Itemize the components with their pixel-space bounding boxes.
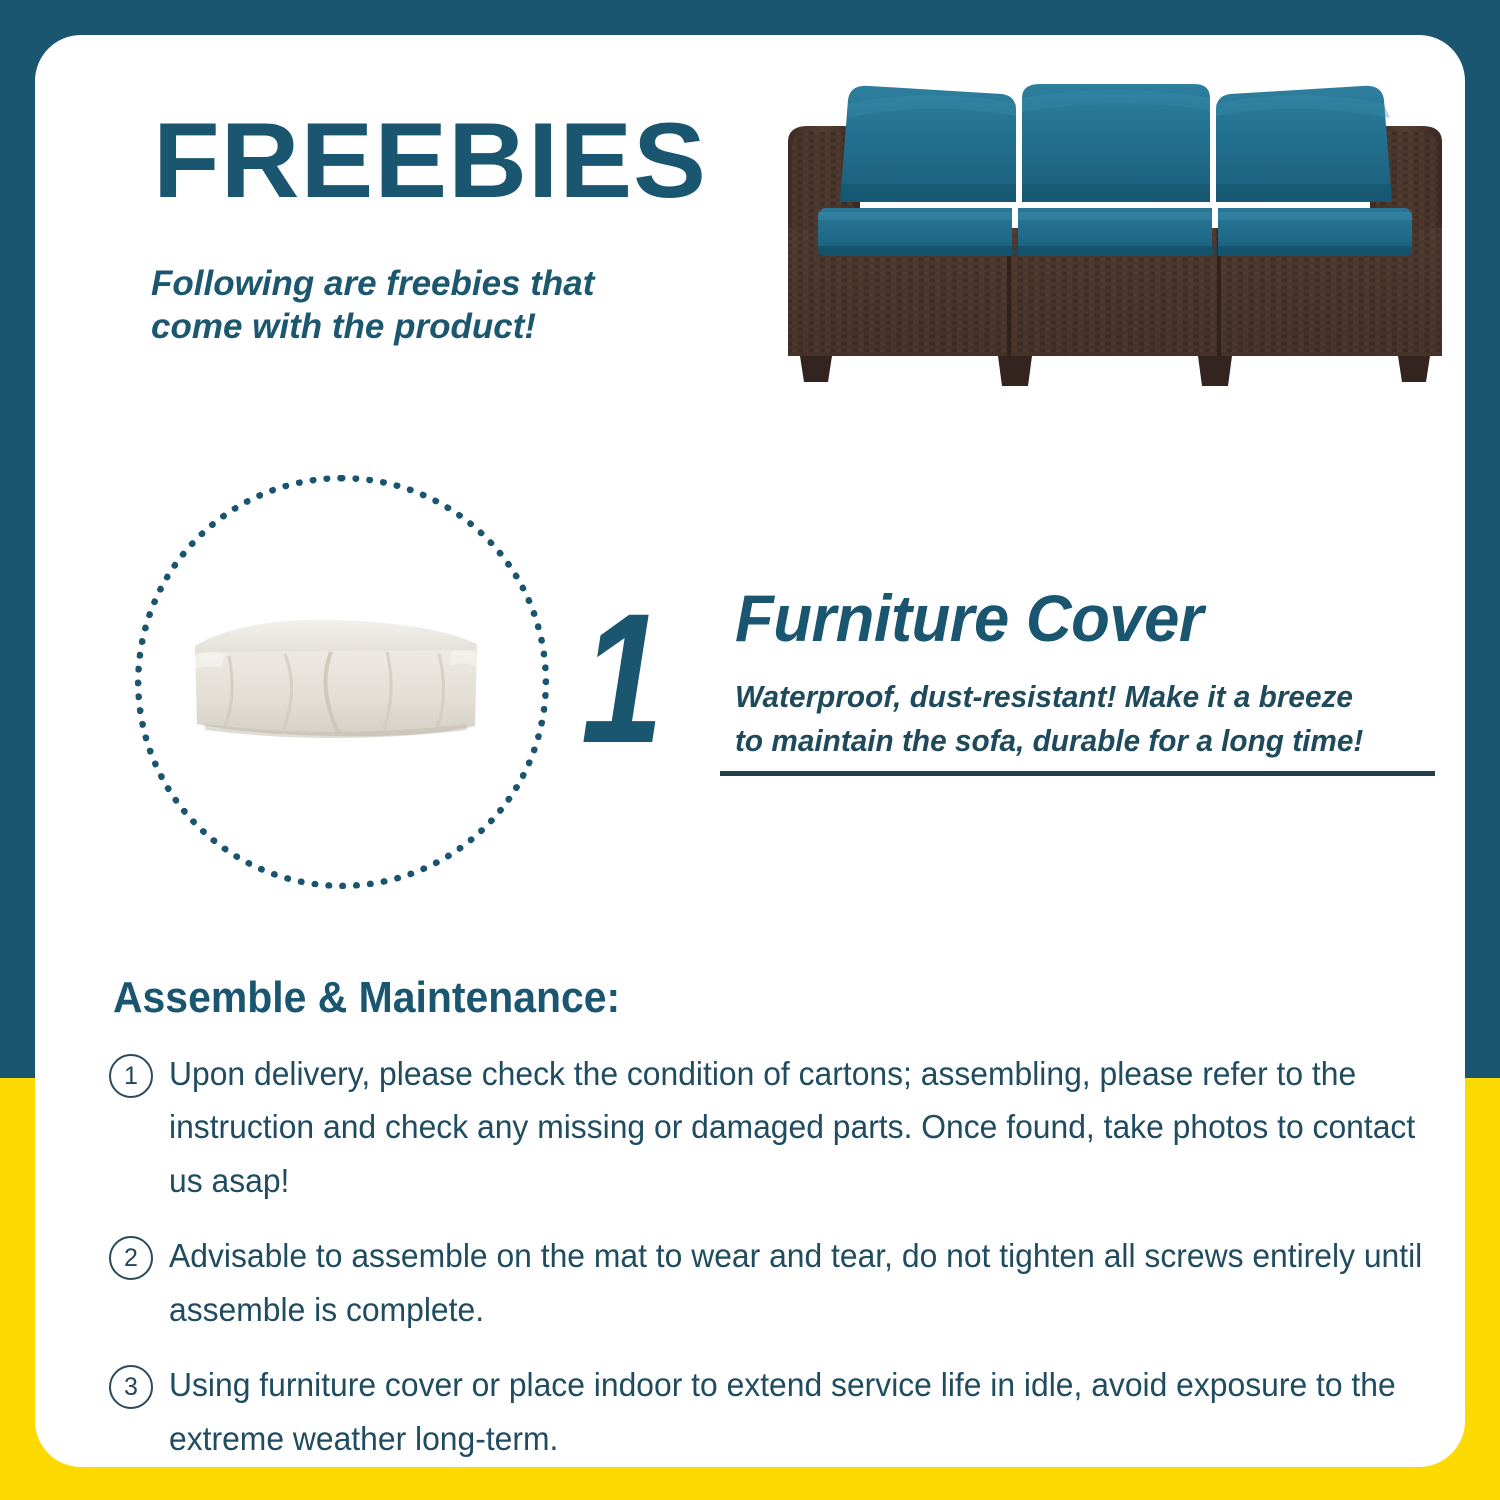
list-item: 2 Advisable to assemble on the mat to we… (109, 1229, 1465, 1336)
list-item: 1 Upon delivery, please check the condit… (109, 1047, 1465, 1207)
freebie-number: 1 (581, 587, 663, 772)
freebie-divider (720, 771, 1435, 776)
maintenance-heading: Assemble & Maintenance: (113, 973, 620, 1023)
freebie-description: Waterproof, dust-resistant! Make it a br… (735, 675, 1436, 763)
sofa-illustration (770, 60, 1460, 400)
list-item-text: Upon delivery, please check the conditio… (169, 1047, 1424, 1207)
list-item-text: Advisable to assemble on the mat to wear… (169, 1229, 1424, 1336)
furniture-cover-image (181, 610, 491, 750)
page-title: FREEBIES (153, 107, 707, 214)
header-section: FREEBIES Following are freebies that com… (35, 35, 1465, 435)
content-card: FREEBIES Following are freebies that com… (35, 35, 1465, 1467)
list-item: 3 Using furniture cover or place indoor … (109, 1358, 1465, 1465)
maintenance-list: 1 Upon delivery, please check the condit… (109, 1047, 1465, 1467)
freebie-name: Furniture Cover (735, 585, 1203, 651)
list-item-marker: 1 (109, 1054, 153, 1098)
list-item-marker: 3 (109, 1365, 153, 1409)
freebie-image-zone (97, 460, 567, 900)
list-item-text: Using furniture cover or place indoor to… (169, 1358, 1424, 1465)
hero-sofa-image (770, 60, 1460, 400)
page-frame: FREEBIES Following are freebies that com… (0, 0, 1500, 1500)
list-item-marker: 2 (109, 1236, 153, 1280)
page-subtitle: Following are freebies that come with th… (151, 263, 594, 348)
